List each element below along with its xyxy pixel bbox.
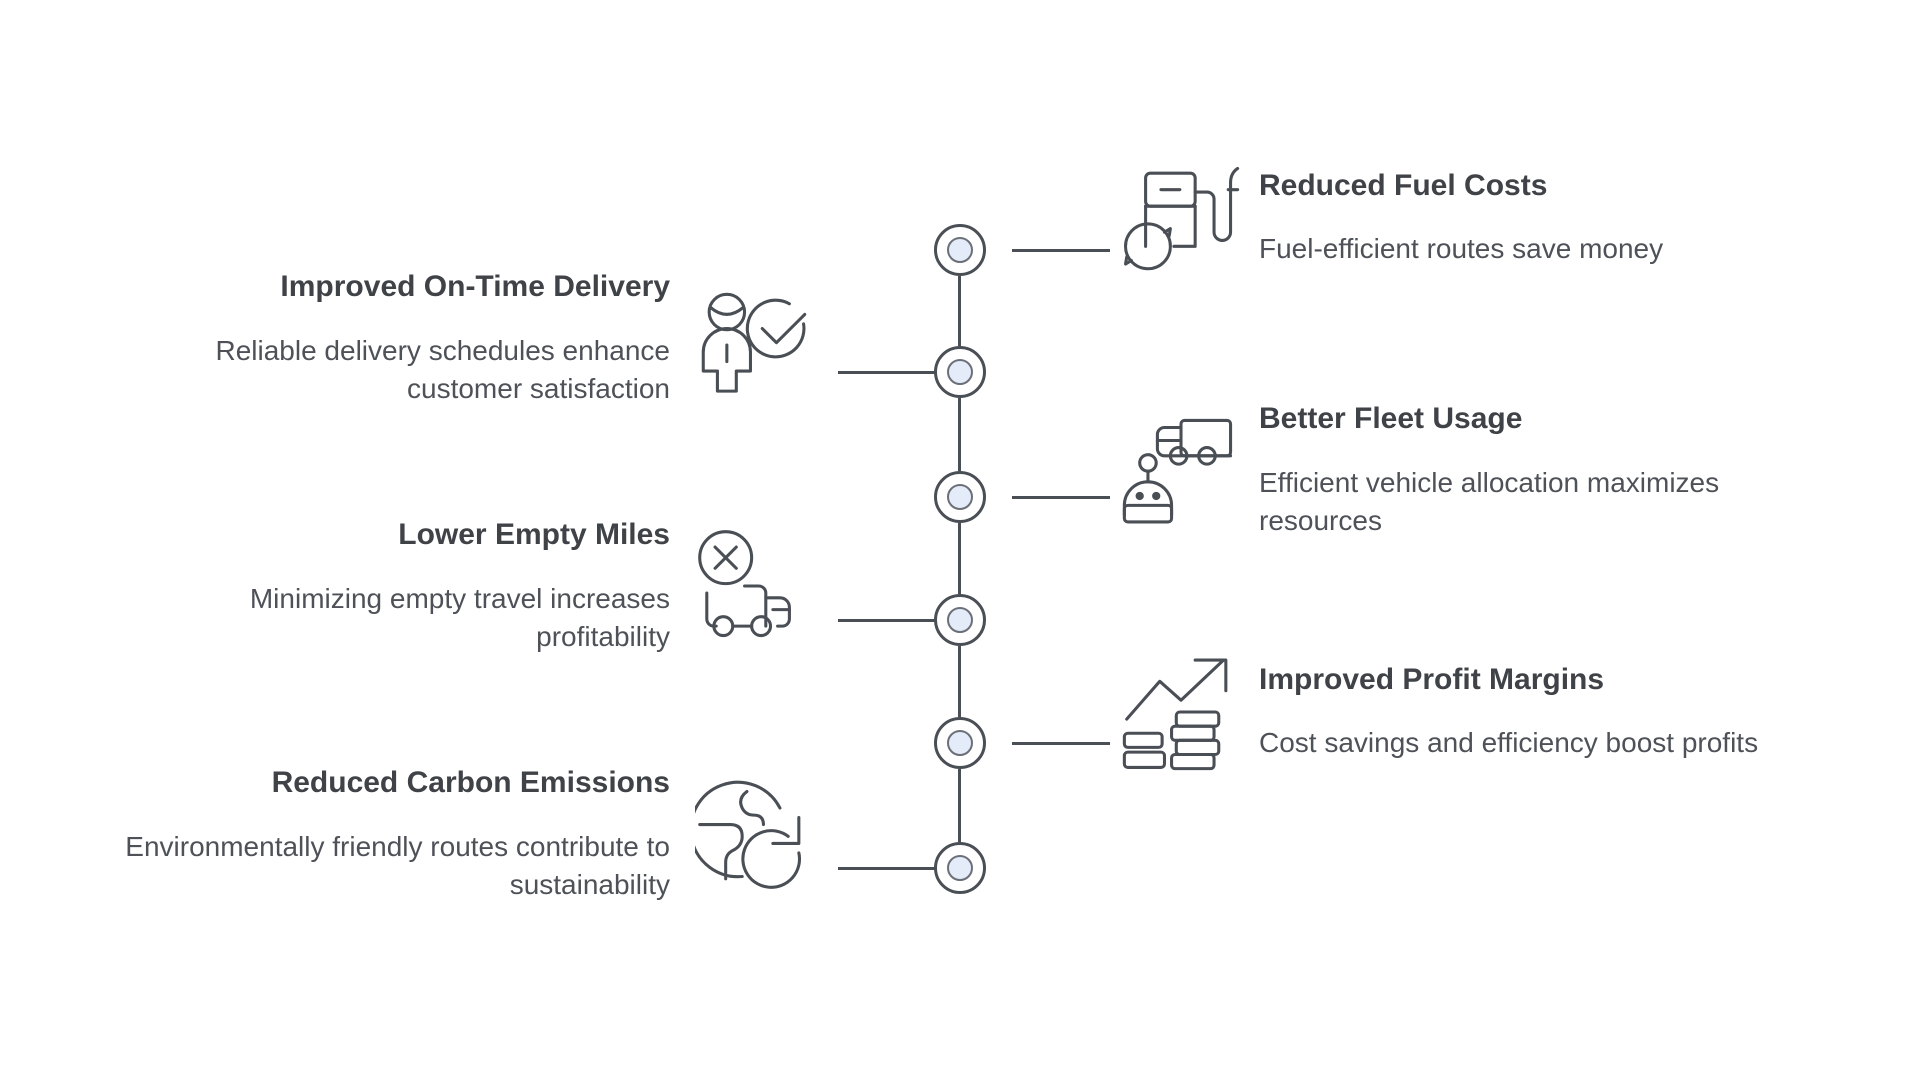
item-description: Cost savings and efficiency boost profit… (1259, 724, 1758, 763)
item-title: Better Fleet Usage (1259, 400, 1819, 438)
timeline-item-1[interactable]: Reduced Fuel Costs Fuel-efficient routes… (1115, 152, 1663, 284)
item-text-block: Lower Empty Miles Minimizing empty trave… (110, 516, 688, 657)
item-text-block: Reduced Carbon Emissions Environmentally… (110, 764, 688, 905)
globe-recycle-icon (688, 768, 820, 900)
item-title: Improved Profit Margins (1259, 661, 1758, 699)
connector-1 (1012, 249, 1110, 252)
timeline-item-2[interactable]: Improved On-Time Delivery Reliable deliv… (110, 268, 820, 409)
item-description: Environmentally friendly routes contribu… (110, 828, 670, 905)
node-core (947, 359, 973, 385)
item-description: Minimizing empty travel increases profit… (110, 580, 670, 657)
node-core (947, 730, 973, 756)
timeline-node-5[interactable] (934, 717, 986, 769)
timeline-item-6[interactable]: Reduced Carbon Emissions Environmentally… (110, 764, 820, 905)
timeline-item-3[interactable]: Better Fleet Usage Efficient vehicle all… (1115, 400, 1819, 541)
growth-arrow-coins-icon (1115, 646, 1247, 778)
fuel-pump-refresh-icon (1115, 152, 1247, 284)
spine-segment-5-6 (958, 769, 961, 842)
item-title: Reduced Carbon Emissions (110, 764, 670, 802)
item-description: Fuel-efficient routes save money (1259, 230, 1663, 269)
timeline-node-2[interactable] (934, 346, 986, 398)
spine-segment-4-5 (958, 646, 961, 717)
timeline-node-1[interactable] (934, 224, 986, 276)
spine-segment-2-3 (958, 398, 961, 471)
empty-truck-cross-icon (688, 520, 820, 652)
timeline-node-4[interactable] (934, 594, 986, 646)
timeline-item-5[interactable]: Improved Profit Margins Cost savings and… (1115, 646, 1758, 778)
spine-segment-3-4 (958, 523, 961, 594)
truck-robot-icon (1115, 404, 1247, 536)
item-text-block: Improved Profit Margins Cost savings and… (1247, 661, 1758, 763)
item-text-block: Reduced Fuel Costs Fuel-efficient routes… (1247, 167, 1663, 269)
person-check-icon (688, 272, 820, 404)
timeline-item-4[interactable]: Lower Empty Miles Minimizing empty trave… (110, 516, 820, 657)
spine-segment-1-2 (958, 276, 961, 346)
node-core (947, 607, 973, 633)
node-core (947, 237, 973, 263)
item-description: Efficient vehicle allocation maximizes r… (1259, 464, 1819, 541)
item-text-block: Better Fleet Usage Efficient vehicle all… (1247, 400, 1819, 541)
connector-5 (1012, 742, 1110, 745)
item-text-block: Improved On-Time Delivery Reliable deliv… (110, 268, 688, 409)
connector-3 (1012, 496, 1110, 499)
node-core (947, 855, 973, 881)
item-title: Lower Empty Miles (110, 516, 670, 554)
timeline-node-3[interactable] (934, 471, 986, 523)
timeline-node-6[interactable] (934, 842, 986, 894)
item-title: Reduced Fuel Costs (1259, 167, 1663, 205)
diagram-canvas: Reduced Fuel Costs Fuel-efficient routes… (0, 0, 1920, 1080)
item-description: Reliable delivery schedules enhance cust… (110, 332, 670, 409)
item-title: Improved On-Time Delivery (110, 268, 670, 306)
node-core (947, 484, 973, 510)
